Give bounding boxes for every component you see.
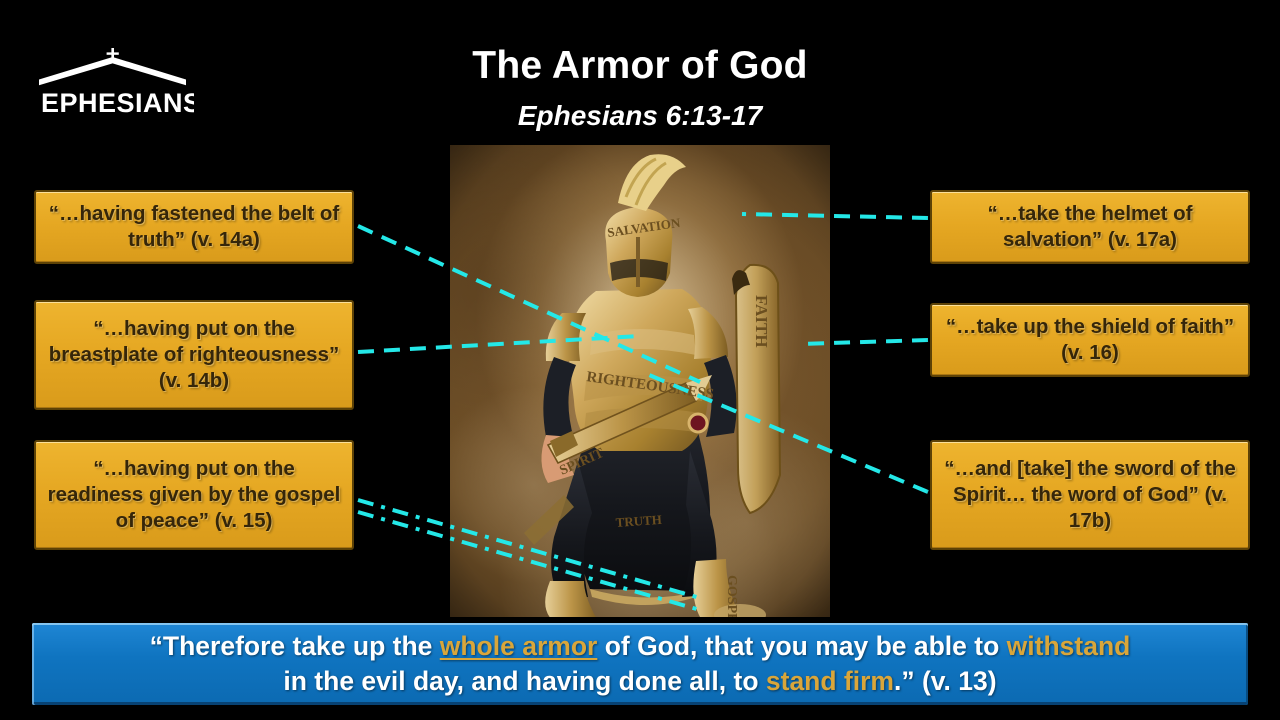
page-subtitle: Ephesians 6:13-17: [0, 100, 1280, 132]
banner-text-part-4: .” (v. 13): [894, 666, 997, 696]
scripture-banner: “Therefore take up the whole armor of Go…: [32, 623, 1248, 705]
callout-shield-of-faith[interactable]: “…take up the shield of faith” (v. 16): [930, 303, 1250, 377]
callout-gospel-of-peace[interactable]: “…having put on the readiness given by t…: [34, 440, 354, 550]
banner-text-part-1: “Therefore take up the: [150, 631, 440, 661]
warrior-illustration: SALVATION RIGHTEOUSNESS FAITH SPIRIT TRU…: [450, 145, 830, 617]
callout-belt-of-truth[interactable]: “…having fastened the belt of truth” (v.…: [34, 190, 354, 264]
figure-label-faith: FAITH: [752, 295, 771, 348]
figure-label-gospel: GOSPEL: [724, 575, 739, 617]
scripture-banner-text: “Therefore take up the whole armor of Go…: [134, 629, 1147, 699]
banner-highlight-withstand: withstand: [1007, 631, 1131, 661]
banner-highlight-stand-firm: stand firm: [766, 666, 894, 696]
banner-highlight-whole-armor: whole armor: [440, 631, 598, 661]
armor-warrior-image: SALVATION RIGHTEOUSNESS FAITH SPIRIT TRU…: [450, 145, 830, 617]
banner-text-part-2: of God, that you may be able to: [597, 631, 1006, 661]
callout-sword-of-the-spirit[interactable]: “…and [take] the sword of the Spirit… th…: [930, 440, 1250, 550]
callout-breastplate-of-righteousness[interactable]: “…having put on the breastplate of right…: [34, 300, 354, 410]
callout-helmet-of-salvation[interactable]: “…take the helmet of salvation” (v. 17a): [930, 190, 1250, 264]
banner-text-part-3: in the evil day, and having done all, to: [283, 666, 765, 696]
page-title: The Armor of God: [0, 44, 1280, 88]
